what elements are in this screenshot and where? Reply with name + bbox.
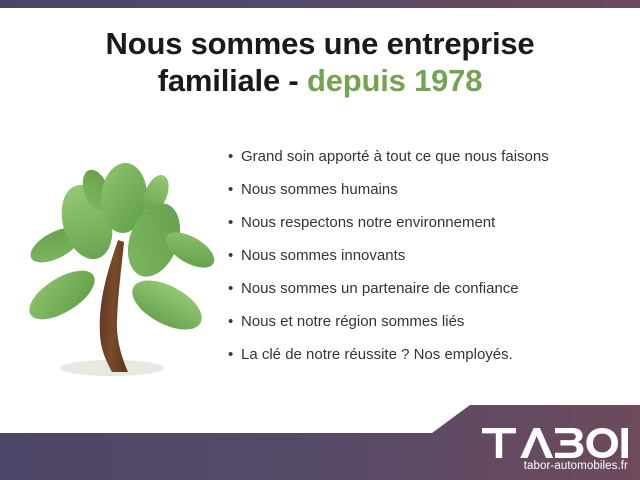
title-line-2-accent: depuis 1978	[307, 63, 482, 98]
bullet-icon: •	[228, 149, 241, 164]
tabor-wordmark-icon	[482, 428, 628, 458]
list-item: • Nous sommes un partenaire de confiance	[228, 280, 628, 313]
bullet-icon: •	[228, 248, 241, 263]
bullet-icon: •	[228, 347, 241, 362]
bullet-icon: •	[228, 215, 241, 230]
list-item: • Nous sommes innovants	[228, 247, 628, 280]
top-accent-band	[0, 0, 640, 8]
bullet-icon: •	[228, 314, 241, 329]
brand-logo[interactable]: tabor-automobiles.fr	[482, 428, 628, 472]
bullet-icon: •	[228, 281, 241, 296]
list-item: • La clé de notre réussite ? Nos employé…	[228, 346, 628, 379]
tree-trunk	[100, 240, 128, 372]
title-line-2-main: familiale -	[158, 63, 299, 98]
page-title: Nous sommes une entreprise familiale - d…	[0, 26, 640, 99]
list-item: • Nous et notre région sommes liés	[228, 313, 628, 346]
title-line-1: Nous sommes une entreprise	[0, 26, 640, 63]
list-item-label: Nous sommes innovants	[241, 247, 405, 264]
list-item: • Nous sommes humains	[228, 181, 628, 214]
list-item-label: Nous et notre région sommes liés	[241, 313, 464, 330]
list-item-label: Nous respectons notre environnement	[241, 214, 495, 231]
slide-root: Nous sommes une entreprise familiale - d…	[0, 0, 640, 480]
brand-url[interactable]: tabor-automobiles.fr	[482, 460, 628, 472]
bullet-list: • Grand soin apporté à tout ce que nous …	[228, 148, 628, 379]
tree-illustration	[12, 140, 222, 390]
list-item: • Nous respectons notre environnement	[228, 214, 628, 247]
bullet-icon: •	[228, 182, 241, 197]
footer-bar: tabor-automobiles.fr	[0, 400, 640, 480]
list-item-label: Nous sommes un partenaire de confiance	[241, 280, 519, 297]
title-line-2: familiale - depuis 1978	[0, 63, 640, 100]
list-item-label: La clé de notre réussite ? Nos employés.	[241, 346, 513, 363]
list-item: • Grand soin apporté à tout ce que nous …	[228, 148, 628, 181]
list-item-label: Nous sommes humains	[241, 181, 398, 198]
list-item-label: Grand soin apporté à tout ce que nous fa…	[241, 148, 549, 165]
